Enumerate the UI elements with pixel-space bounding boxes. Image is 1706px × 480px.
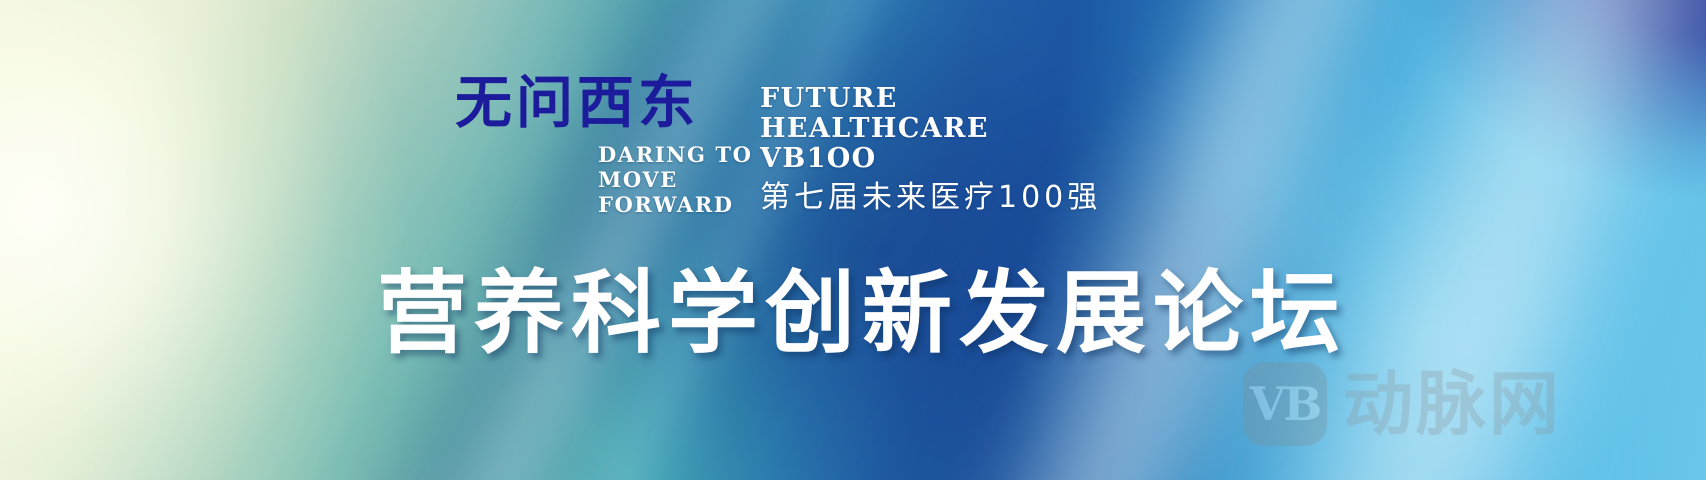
- brand-lockup-right: FUTURE HEALTHCARE VB1OO 第七届未来医疗100强: [760, 74, 1101, 215]
- banner-content: 无问西东 DARING TO MOVE FORWARD FUTURE HEALT…: [0, 0, 1706, 480]
- brand-lockup-left: 无问西东 DARING TO MOVE FORWARD: [455, 74, 755, 131]
- tagline-line-1: DARING TO: [598, 142, 753, 167]
- tagline-block: DARING TO MOVE FORWARD: [598, 142, 753, 217]
- brand-lockup: 无问西东 DARING TO MOVE FORWARD FUTURE HEALT…: [455, 74, 1101, 215]
- tagline-line-3: FORWARD: [598, 192, 753, 217]
- watermark: VB 动脉网: [1243, 362, 1562, 446]
- chinese-subtitle: 第七届未来医疗100强: [760, 181, 1101, 215]
- vb-logo-icon: VB: [1243, 362, 1327, 446]
- vb-logo-text: VB: [1250, 381, 1321, 427]
- english-line-future: FUTURE: [760, 84, 1101, 114]
- chinese-logotype: 无问西东: [455, 74, 755, 131]
- watermark-label: 动脉网: [1343, 369, 1562, 439]
- tagline-line-2: MOVE: [598, 167, 753, 192]
- main-title: 营养科学创新发展论坛: [0, 263, 1706, 365]
- english-line-healthcare: HEALTHCARE: [760, 114, 1101, 144]
- conference-banner: 无问西东 DARING TO MOVE FORWARD FUTURE HEALT…: [0, 0, 1706, 480]
- english-line-vb100: VB1OO: [760, 144, 1101, 174]
